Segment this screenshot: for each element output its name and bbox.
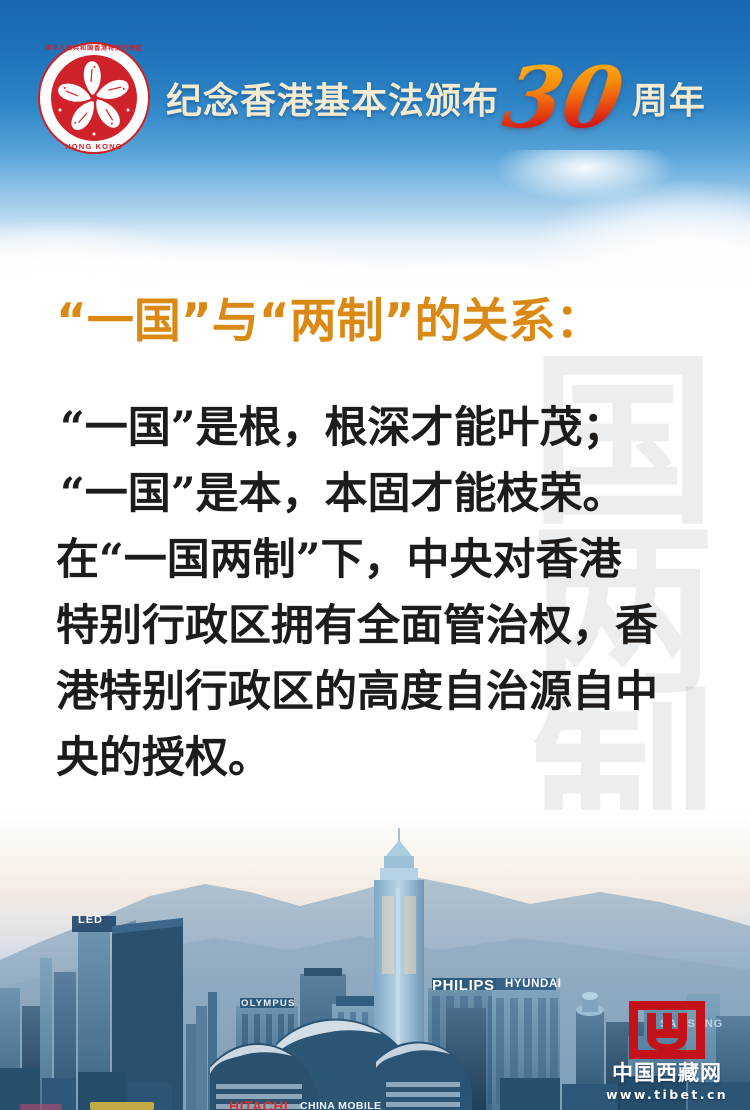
body-line-2: “一国”是本，本固才能枝荣。 — [56, 461, 720, 527]
body-line-4: 特别行政区拥有全面管治权，香 — [56, 593, 720, 659]
body-text-block: “一国”是根，根深才能叶茂； “一国”是本，本固才能枝荣。 在“一国两制”下，中… — [0, 395, 750, 791]
banner-title-part2: 周年 — [632, 72, 706, 124]
emblem-arc-top-text: 中华人民共和国香港特别行政区 — [38, 43, 150, 52]
site-url: www.tibet.cn — [598, 1087, 736, 1102]
main-content: “一国”与“两制”的关系： “一国”是根，根深才能叶茂； “一国”是本，本固才能… — [0, 282, 750, 791]
body-line-6: 央的授权。 — [56, 725, 720, 791]
banner-title-group: 纪念香港基本法颁布 30 周年 — [166, 64, 706, 131]
site-logo-block[interactable]: 中国西藏网 www.tibet.cn — [598, 999, 736, 1102]
emblem-arc-bottom-text: HONG KONG — [38, 142, 150, 151]
body-line-5: 港特别行政区的高度自治源自中 — [56, 659, 720, 725]
bauhinia-flower-icon — [51, 55, 137, 141]
body-line-3: 在“一国两制”下，中央对香港 — [56, 527, 720, 593]
hksar-regional-emblem-icon: 中华人民共和国香港特别行政区 — [38, 42, 150, 154]
header-banner: 中华人民共和国香港特别行政区 — [0, 30, 750, 165]
body-line-1: “一国”是根，根深才能叶茂； — [56, 395, 720, 461]
poster-canvas: 中华人民共和国香港特别行政区 — [0, 0, 750, 1110]
site-name: 中国西藏网 — [598, 1061, 736, 1085]
anniversary-number: 30 — [500, 64, 628, 131]
cloud-layer — [0, 150, 750, 300]
xi-character-logo-icon — [598, 999, 736, 1061]
banner-title-part1: 纪念香港基本法颁布 — [166, 72, 499, 124]
page-heading: “一国”与“两制”的关系： — [0, 282, 750, 351]
